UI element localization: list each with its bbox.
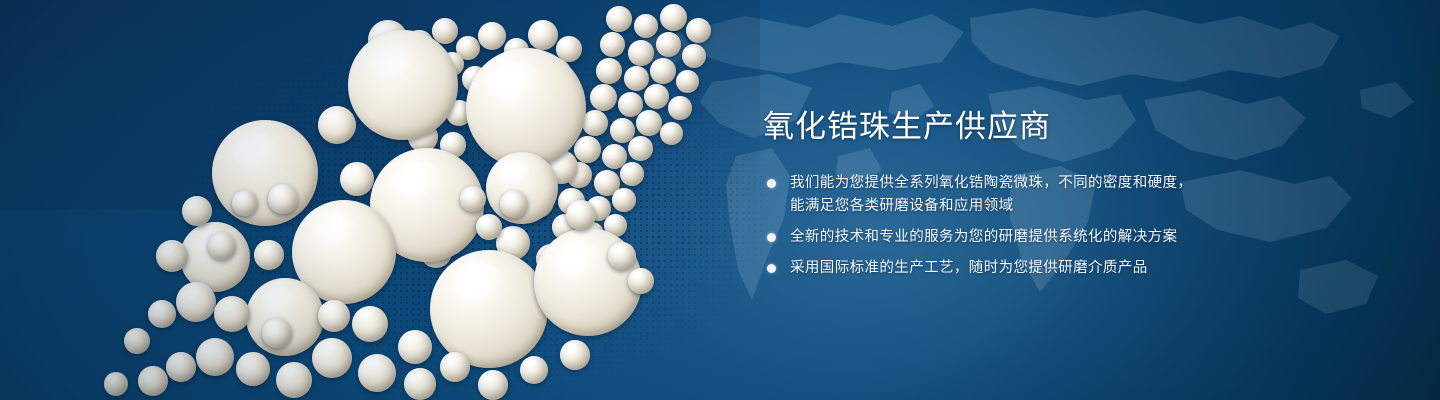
bullet-text-line: 我们能为您提供全系列氧化锆陶瓷微珠，不同的密度和硬度， xyxy=(790,172,1233,195)
bullet-text-line: 全新的技术和专业的服务为您的研磨提供系统化的解决方案 xyxy=(790,226,1233,249)
list-item: 全新的技术和专业的服务为您的研磨提供系统化的解决方案 xyxy=(763,226,1233,249)
bullet-text-line: 能满足您各类研磨设备和应用领域 xyxy=(790,195,1233,218)
hero-banner: 氧化锆珠生产供应商 我们能为您提供全系列氧化锆陶瓷微珠，不同的密度和硬度， 能满… xyxy=(0,0,1440,400)
list-item: 我们能为您提供全系列氧化锆陶瓷微珠，不同的密度和硬度， 能满足您各类研磨设备和应… xyxy=(763,172,1233,218)
banner-copy-block: 氧化锆珠生产供应商 我们能为您提供全系列氧化锆陶瓷微珠，不同的密度和硬度， 能满… xyxy=(763,108,1233,280)
bullet-text-line: 采用国际标准的生产工艺，随时为您提供研磨介质产品 xyxy=(790,257,1233,280)
bullet-dot-icon xyxy=(767,233,776,242)
list-item: 采用国际标准的生产工艺，随时为您提供研磨介质产品 xyxy=(763,257,1233,280)
bullet-dot-icon xyxy=(767,179,776,188)
bullet-dot-icon xyxy=(767,264,776,273)
feature-bullet-list: 我们能为您提供全系列氧化锆陶瓷微珠，不同的密度和硬度， 能满足您各类研磨设备和应… xyxy=(763,172,1233,280)
page-title: 氧化锆珠生产供应商 xyxy=(763,108,1233,146)
